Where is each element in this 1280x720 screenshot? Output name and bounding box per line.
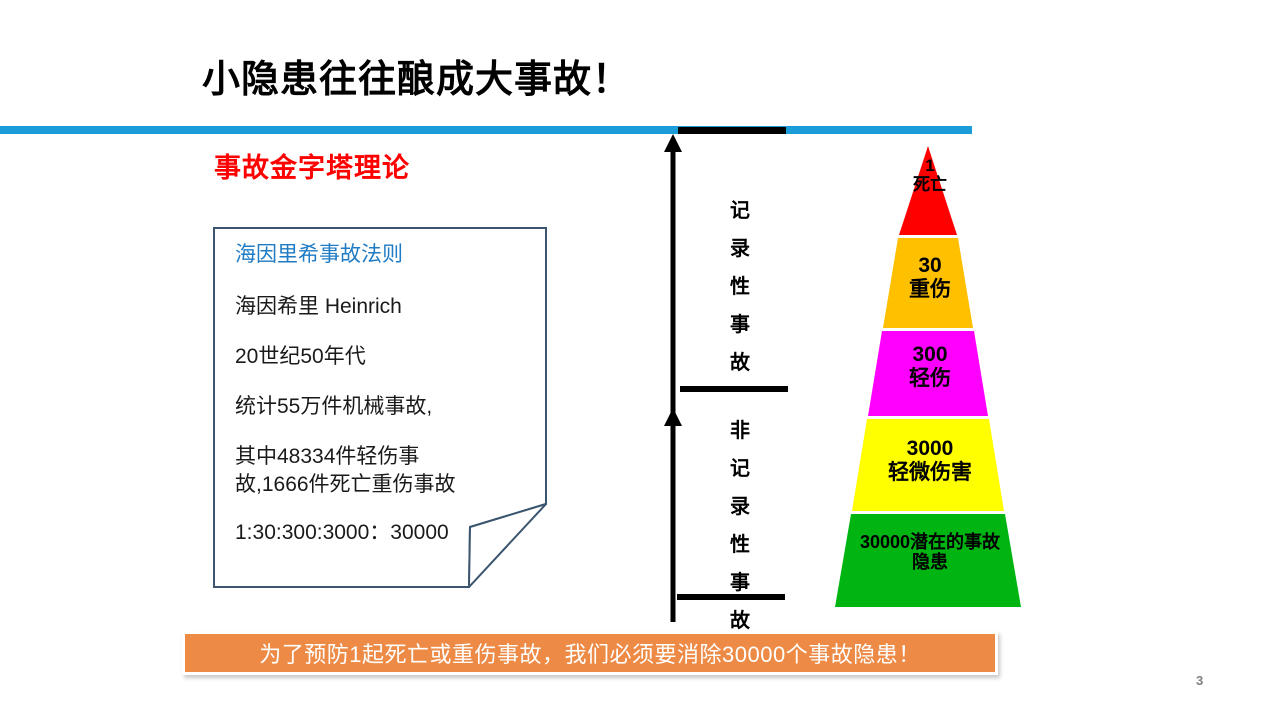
note-line-3: 统计55万件机械事故, — [235, 393, 535, 421]
axis-label-recorded: 记录性事故 — [723, 192, 757, 382]
page-number: 3 — [1196, 673, 1203, 688]
page-title: 小隐患往往酿成大事故！ — [202, 48, 631, 103]
pyramid-name-1: 死亡 — [780, 175, 1080, 194]
pyramid-count-4: 3000 — [780, 437, 1080, 461]
pyramid-label-2: 30 重伤 — [780, 254, 1080, 301]
pyramid-label-4: 3000 轻微伤害 — [780, 437, 1080, 484]
note-title: 海因里希事故法则 — [235, 241, 535, 269]
callout-banner: 为了预防1起死亡或重伤事故，我们必须要消除30000个事故隐患！ — [182, 631, 998, 675]
pyramid-label-5: 30000潜在的事故 隐患 — [780, 532, 1080, 572]
note-box: 海因里希事故法则 海因希里 Heinrich 20世纪50年代 统计55万件机械… — [213, 227, 547, 588]
pyramid-name-2: 重伤 — [780, 278, 1080, 302]
note-line-ratio: 1:30:300:3000：30000 — [235, 519, 535, 547]
axis-label-unrecorded: 非记录性事故 — [723, 412, 757, 640]
pyramid-count-1: 1 — [780, 156, 1080, 175]
pyramid-name-3: 轻伤 — [780, 367, 1080, 391]
pyramid-count-3: 300 — [780, 343, 1080, 367]
pyramid-name-4: 轻微伤害 — [780, 461, 1080, 485]
pyramid-label-1: 1 死亡 — [780, 156, 1080, 194]
callout-banner-text: 为了预防1起死亡或重伤事故，我们必须要消除30000个事故隐患！ — [259, 637, 920, 669]
accident-pyramid-chart: 1 死亡 30 重伤 300 轻伤 3000 轻微伤害 30000潜在的事故 隐… — [780, 140, 1080, 615]
pyramid-name-5: 隐患 — [780, 552, 1080, 572]
note-line-4: 其中48334件轻伤事 故,1666件死亡重伤事故 — [235, 443, 535, 499]
note-line-2: 20世纪50年代 — [235, 343, 535, 371]
pyramid-count-2: 30 — [780, 254, 1080, 278]
note-line-1: 海因希里 Heinrich — [235, 293, 535, 321]
title-divider-rule — [0, 126, 972, 134]
note-box-content: 海因里希事故法则 海因希里 Heinrich 20世纪50年代 统计55万件机械… — [235, 241, 535, 569]
section-heading: 事故金字塔理论 — [214, 146, 410, 185]
pyramid-label-3: 300 轻伤 — [780, 343, 1080, 390]
pyramid-count-5: 30000潜在的事故 — [780, 532, 1080, 552]
